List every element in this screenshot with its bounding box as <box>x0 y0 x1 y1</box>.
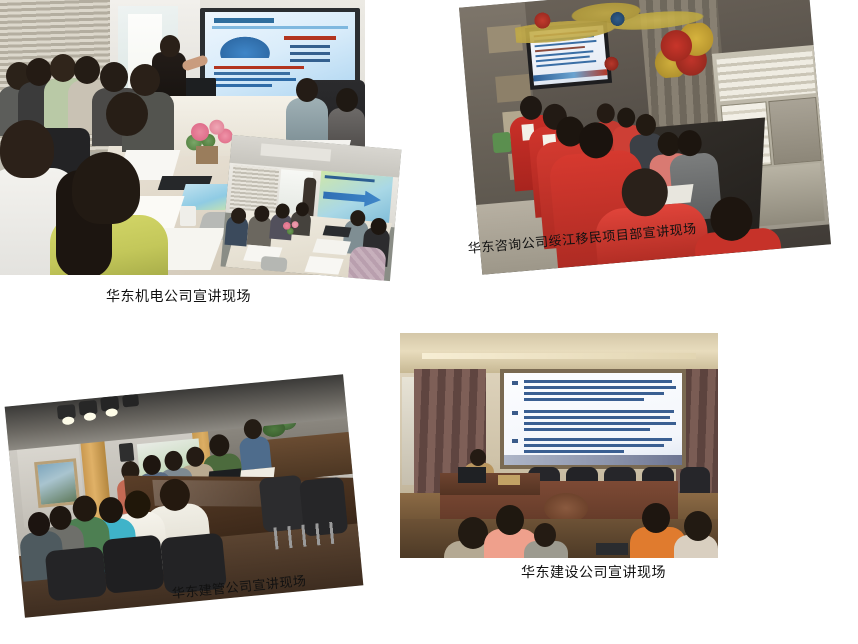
slide-text-line <box>214 72 290 75</box>
audience-head <box>496 505 524 535</box>
slide-text-line <box>524 416 670 419</box>
slide-text-line <box>524 398 644 401</box>
slide-text-line <box>524 422 676 425</box>
slide-text-line <box>214 84 272 87</box>
slide-footer-bar <box>504 455 682 465</box>
slide-rule <box>212 26 348 29</box>
photo-1b-scene <box>221 135 402 281</box>
attendee-head <box>130 64 160 96</box>
slide-text-line <box>524 438 672 441</box>
slide-text-line <box>284 36 336 40</box>
photo-huadong-jianshe[interactable] <box>400 333 718 558</box>
waste-bin <box>492 132 512 153</box>
slide-text-line <box>524 444 664 447</box>
photo-huadong-jianguan[interactable] <box>5 374 364 618</box>
cabinet-shelves <box>716 51 815 101</box>
decorative-flower <box>534 12 551 29</box>
speaker-head <box>470 449 486 466</box>
framed-painting <box>34 458 80 508</box>
flower-vase <box>196 146 218 164</box>
slide-text-line <box>290 59 330 62</box>
paper-document <box>304 256 343 275</box>
slide-bullet <box>512 381 518 385</box>
presenter-head <box>160 35 180 57</box>
foreground-attendee-head <box>0 120 54 178</box>
laptop <box>596 543 628 555</box>
slide-text-line <box>214 66 304 69</box>
attendee-body <box>286 98 328 144</box>
collage-canvas: 华东机电公司宣讲现场 <box>0 0 858 644</box>
audience-head <box>534 523 556 547</box>
foreground-attendee-head <box>72 152 140 224</box>
slide-text-line <box>290 45 330 48</box>
slide-bullet <box>512 411 518 415</box>
slide-text-line <box>524 392 664 395</box>
office-chair <box>259 475 306 533</box>
paper-cup <box>180 206 196 226</box>
stage-chair <box>680 467 710 493</box>
slide-illustration <box>216 34 274 58</box>
wall-speaker <box>119 443 135 462</box>
slide-text-line <box>524 428 650 431</box>
attendee-head <box>74 56 100 84</box>
attendee-head <box>106 92 148 136</box>
table-tray <box>260 256 287 272</box>
cabinet-door <box>768 97 821 165</box>
attendee-head <box>296 78 318 102</box>
ceiling-cove-light <box>422 353 696 359</box>
slide-text-line <box>524 450 624 453</box>
laptop <box>323 225 352 237</box>
photo-3-scene <box>5 374 364 618</box>
slide-bullet <box>512 439 518 443</box>
photo-huadong-jianguan-wrapper <box>5 374 364 618</box>
slide-text-line <box>214 78 296 81</box>
track-light <box>122 394 139 407</box>
decorative-flower-cluster <box>647 21 719 79</box>
name-plate <box>498 475 520 485</box>
slide-title-bar <box>214 18 274 23</box>
photo-huadong-jidian-inset[interactable] <box>221 135 402 281</box>
slide-text-line <box>290 52 330 55</box>
slide-text-line <box>524 380 672 383</box>
office-chair <box>45 546 108 601</box>
audience-head <box>642 503 670 533</box>
laptop <box>458 467 486 483</box>
audience-head <box>684 511 712 541</box>
photo-4-scene <box>400 333 718 558</box>
decorative-flower <box>604 56 619 71</box>
caption-photo-huadong-jianshe: 华东建设公司宣讲现场 <box>521 566 666 580</box>
office-chair <box>102 535 165 594</box>
attendee-body <box>239 436 272 471</box>
paper-document <box>312 239 351 256</box>
caption-photo-huadong-jidian: 华东机电公司宣讲现场 <box>106 290 251 304</box>
attendee-head <box>50 54 76 82</box>
slide-text-line <box>524 410 674 413</box>
attendee-head <box>336 88 358 112</box>
decorative-flower <box>610 11 625 26</box>
slide-text-line <box>524 386 676 389</box>
attendee-body <box>348 246 387 281</box>
attendee-head <box>100 62 128 92</box>
speaker-desk <box>440 473 540 495</box>
flower-bouquet <box>275 215 307 240</box>
